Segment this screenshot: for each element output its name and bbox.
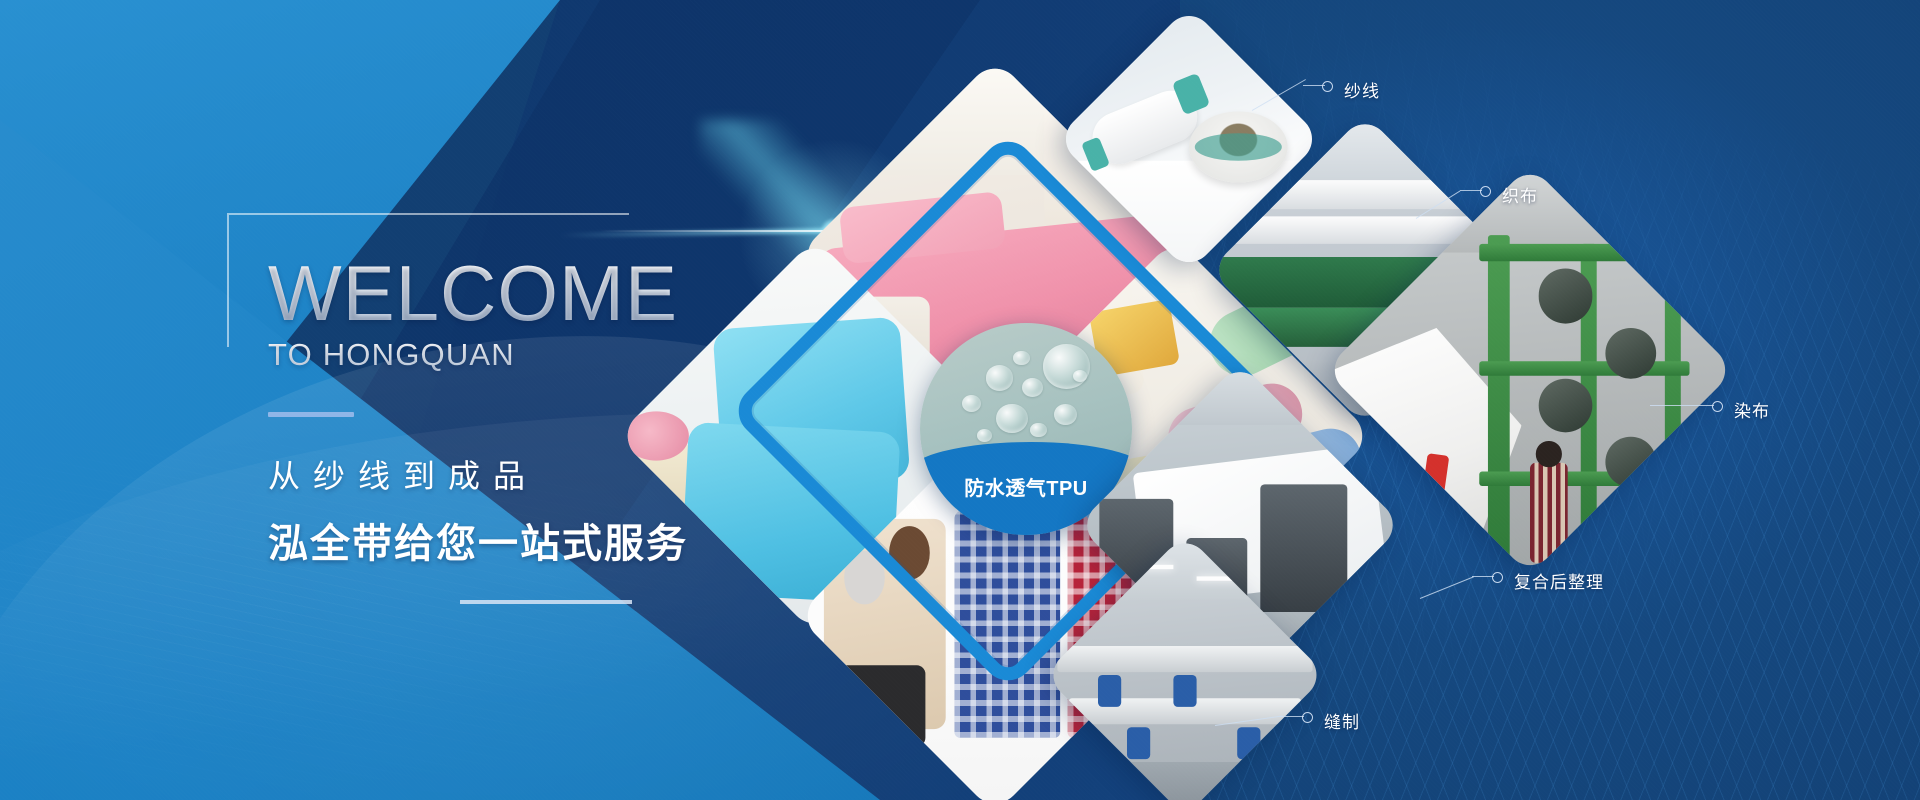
process-label-yarn: 纱线 bbox=[1344, 77, 1380, 102]
decorative-rule-lower bbox=[460, 600, 632, 604]
badge-label: 防水透气TPU bbox=[920, 472, 1132, 501]
process-label-sewing: 缝制 bbox=[1324, 708, 1360, 733]
process-label-weaving: 织布 bbox=[1502, 182, 1538, 207]
process-label-lamination: 复合后整理 bbox=[1514, 568, 1604, 593]
welcome-banner: WELCOME TO HONGQUAN 从纱线到成品 泓全带给您一站式服务 bbox=[0, 0, 1920, 800]
process-label-dyeing: 染布 bbox=[1734, 397, 1770, 422]
title-divider bbox=[268, 412, 354, 417]
